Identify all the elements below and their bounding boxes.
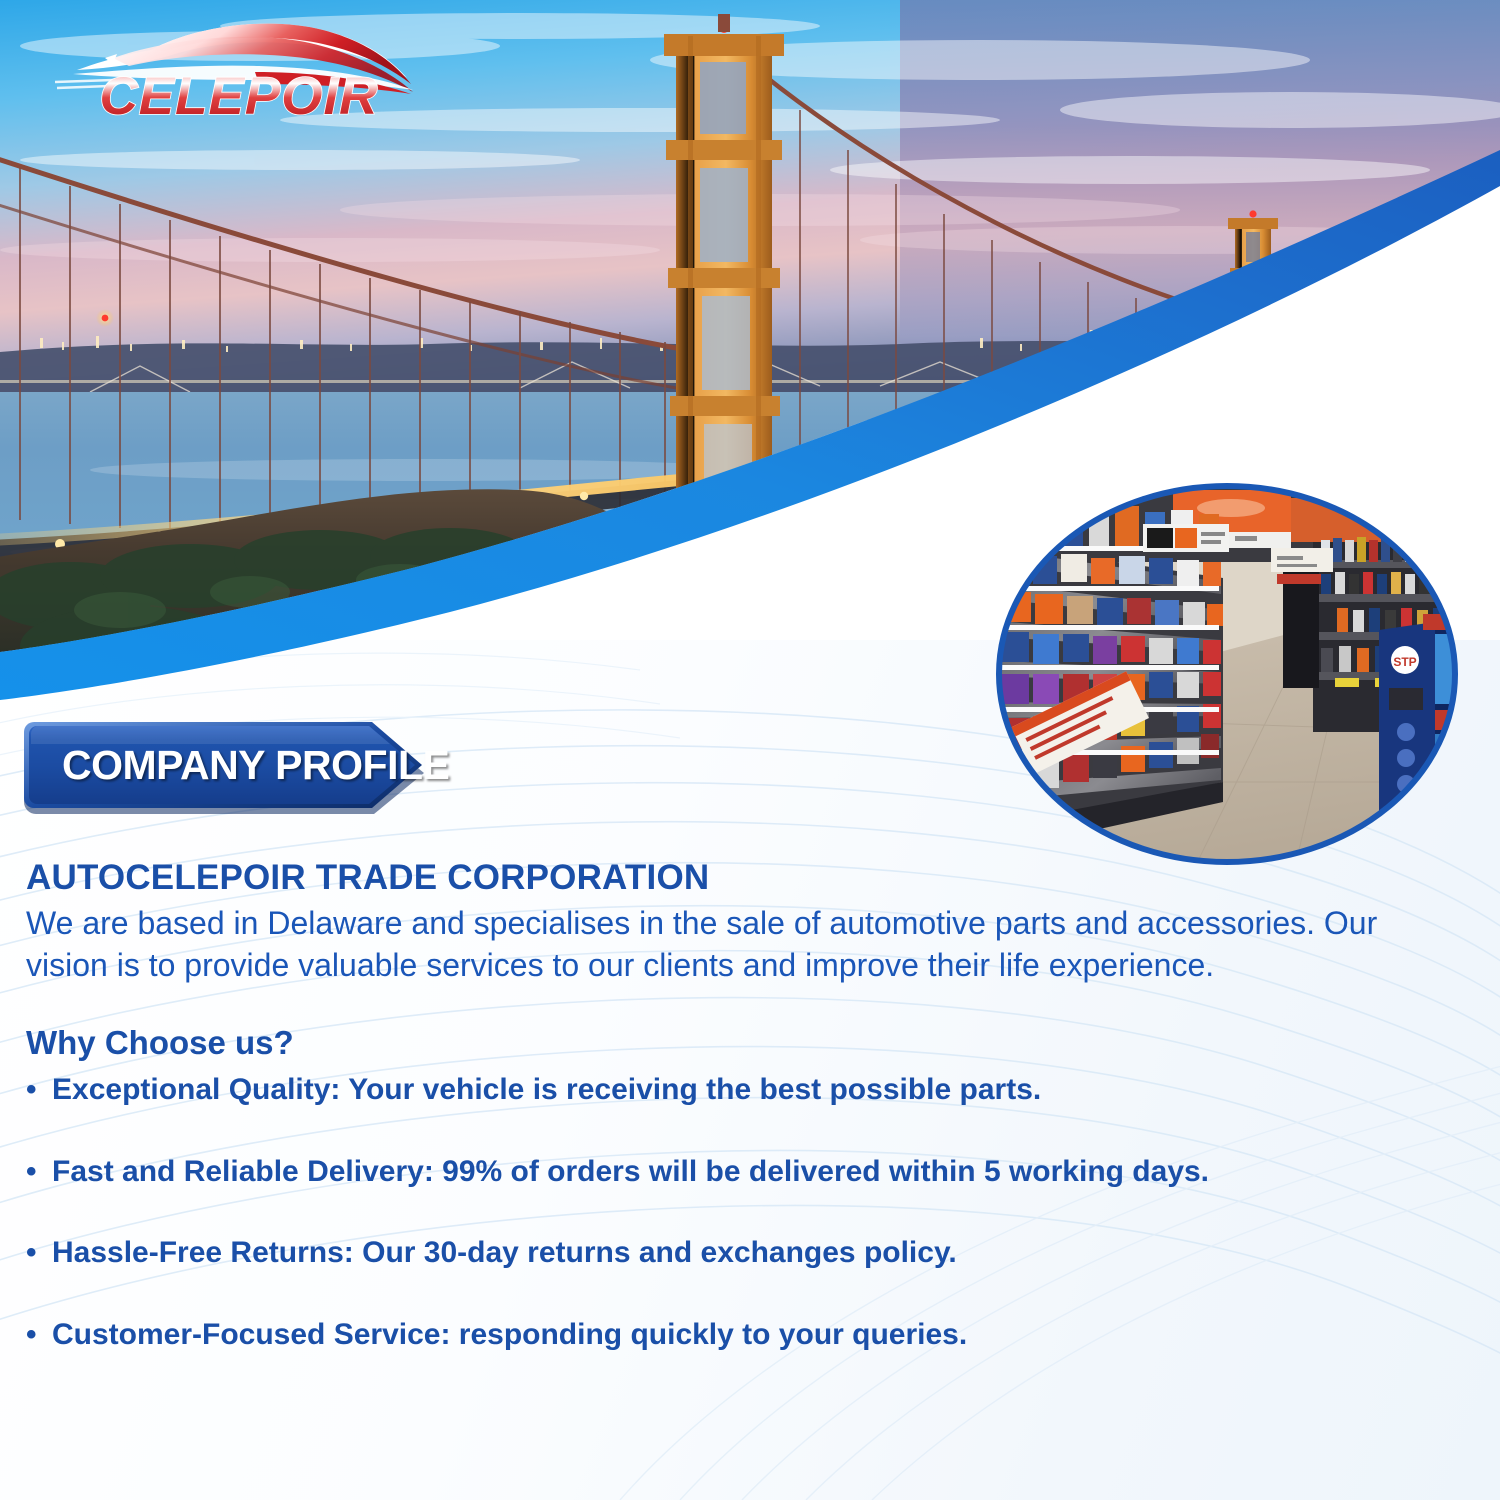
why-choose-us-heading: Why Choose us?	[26, 1024, 1476, 1062]
company-profile-page: CELEPOIR	[0, 0, 1500, 1500]
bullet-icon: •	[26, 1235, 52, 1270]
profile-content: AUTOCELEPOIR TRADE CORPORATION We are ba…	[26, 858, 1476, 1398]
list-item-label: Hassle-Free Returns: Our 30-day returns …	[52, 1235, 957, 1270]
svg-text:STP: STP	[1393, 655, 1416, 669]
list-item-label: Exceptional Quality: Your vehicle is rec…	[52, 1072, 1041, 1107]
bullet-icon: •	[26, 1072, 52, 1107]
store-aisle-oval-image: STP	[995, 482, 1460, 867]
logo-wordmark: CELEPOIR	[100, 67, 379, 126]
company-intro: We are based in Delaware and specialises…	[26, 903, 1386, 986]
company-name: AUTOCELEPOIR TRADE CORPORATION	[26, 858, 1476, 897]
bullet-icon: •	[26, 1154, 52, 1189]
list-item: • Exceptional Quality: Your vehicle is r…	[26, 1072, 1476, 1107]
bullet-icon: •	[26, 1317, 52, 1352]
benefits-list: • Exceptional Quality: Your vehicle is r…	[26, 1072, 1476, 1352]
list-item-label: Fast and Reliable Delivery: 99% of order…	[52, 1154, 1209, 1189]
ribbon-label: COMPANY PROFILE	[62, 716, 449, 814]
list-item-label: Customer-Focused Service: responding qui…	[52, 1317, 967, 1352]
list-item: • Customer-Focused Service: responding q…	[26, 1317, 1476, 1352]
list-item: • Fast and Reliable Delivery: 99% of ord…	[26, 1154, 1476, 1189]
celepoir-logo: CELEPOIR	[55, 14, 425, 129]
list-item: • Hassle-Free Returns: Our 30-day return…	[26, 1235, 1476, 1270]
company-profile-ribbon: COMPANY PROFILE	[22, 716, 442, 814]
